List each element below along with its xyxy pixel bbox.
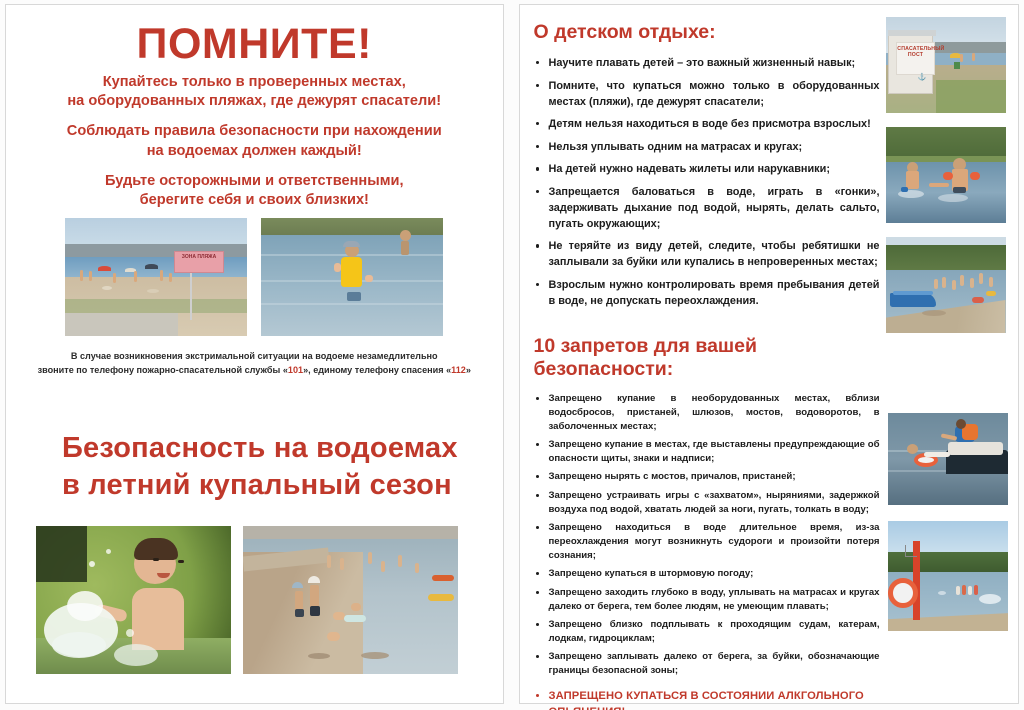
emergency-number-112: 112 xyxy=(451,365,466,375)
list-item: Запрещено заходить глубоко в воду, уплыв… xyxy=(532,586,880,614)
emergency-fineprint: В случае возникновения экстримальной сит… xyxy=(6,336,503,377)
photo-beach-with-blue-boat xyxy=(886,237,1006,333)
photo-beach-with-zone-sign: ЗОНА ПЛЯЖА xyxy=(65,218,247,336)
hero-subtitle-3-line-2: берегите себя и своих близких! xyxy=(24,191,485,210)
hero-subtitle-2-line-1: Соблюдать правила безопасности при нахож… xyxy=(24,122,485,141)
photo-rescuer-with-life-ring xyxy=(888,413,1008,505)
beach-zone-sign-text: ЗОНА ПЛЯЖА xyxy=(174,251,223,272)
children-rules-list: Научите плавать детей – это важный жизне… xyxy=(532,55,880,309)
list-item: Запрещено купание в необорудованных мест… xyxy=(532,392,880,434)
photo-children-on-beach xyxy=(243,526,458,674)
photo-rescue-post: СПАСАТЕЛЬНЫЙ ПОСТ ⚓ xyxy=(886,17,1006,113)
section-title-children-recreation: О детском отдыхе: xyxy=(534,21,880,44)
fineprint-text-part-3: » xyxy=(466,365,471,375)
list-item: Научите плавать детей – это важный жизне… xyxy=(532,55,880,71)
hero-subtitle-1-line-1: Купайтесь только в проверенных местах, xyxy=(24,73,485,92)
final-alcohol-warning: ЗАПРЕЩЕНО КУПАТЬСЯ В СОСТОЯНИИ АЛКГОЛЬНО… xyxy=(532,688,880,710)
main-poster-heading: Безопасность на водоемах в летний купаль… xyxy=(6,378,503,504)
emergency-fineprint-line-1: В случае возникновения экстримальной сит… xyxy=(34,349,475,363)
right-panel: О детском отдыхе: Научите плавать детей … xyxy=(519,4,1020,704)
list-item: Взрослым нужно контролировать время преб… xyxy=(532,277,880,309)
hero-block: ПОМНИТЕ! Купайтесь только в проверенных … xyxy=(6,5,503,210)
poster-page: ПОМНИТЕ! Купайтесь только в проверенных … xyxy=(0,0,1024,710)
list-item: Запрещено купание в местах, где выставле… xyxy=(532,438,880,466)
hero-subtitle-3-line-1: Будьте осторожными и ответственными, xyxy=(24,172,485,191)
rescue-post-sign-text: СПАСАТЕЛЬНЫЙ ПОСТ xyxy=(896,42,934,75)
right-panel-text-column: О детском отдыхе: Научите плавать детей … xyxy=(532,17,880,695)
emergency-number-101: 101 xyxy=(288,365,303,375)
hero-subtitle-2-line-2: на водоемах должен каждый! xyxy=(24,142,485,161)
list-item: Запрещается баловаться в воде, играть в … xyxy=(532,184,880,232)
left-photo-row-top: ЗОНА ПЛЯЖА xyxy=(6,214,503,336)
hero-subtitle-1: Купайтесь только в проверенных местах, н… xyxy=(24,73,485,112)
page-title: ПОМНИТЕ! xyxy=(24,23,485,67)
main-heading-line-1: Безопасность на водоемах xyxy=(62,430,503,467)
list-item: На детей нужно надевать жилеты или нарук… xyxy=(532,161,880,177)
fineprint-text-part-1: звоните по телефону пожарно-спасательной… xyxy=(38,365,288,375)
prohibitions-photo-group xyxy=(888,413,1008,631)
list-item: Запрещено нырять с мостов, причалов, при… xyxy=(532,470,880,484)
main-heading-line-2: в летний купальный сезон xyxy=(62,467,503,504)
photo-child-in-life-vest xyxy=(261,218,443,336)
list-item: Запрещено купаться в штормовую погоду; xyxy=(532,567,880,581)
list-item: Помните, что купаться можно только в обо… xyxy=(532,78,880,110)
photo-toddler-splashing xyxy=(36,526,231,674)
photo-two-boys-in-water xyxy=(886,127,1006,223)
section-prohibitions: 10 запретов для вашей безопасности: Запр… xyxy=(532,335,880,710)
list-item: Нельзя уплывать одним на матрасах и круг… xyxy=(532,139,880,155)
hero-subtitle-1-line-2: на оборудованных пляжах, где дежурят спа… xyxy=(24,92,485,111)
fineprint-text-part-2: », единому телефону спасения « xyxy=(303,365,451,375)
prohibitions-list: Запрещено купание в необорудованных мест… xyxy=(532,392,880,710)
list-item: Запрещено устраивать игры с «захватом», … xyxy=(532,489,880,517)
left-photo-row-bottom xyxy=(6,504,503,674)
list-item: Запрещено находиться в воде длительное в… xyxy=(532,521,880,563)
list-item: Запрещено заплывать далеко от берега, за… xyxy=(532,650,880,678)
hero-subtitle-3: Будьте осторожными и ответственными, бер… xyxy=(24,172,485,211)
photo-lifebuoy-on-post xyxy=(888,521,1008,631)
left-panel: ПОМНИТЕ! Купайтесь только в проверенных … xyxy=(5,4,504,704)
section-title-ten-prohibitions: 10 запретов для вашей безопасности: xyxy=(534,335,880,381)
list-item: Детям нельзя находиться в воде без присм… xyxy=(532,116,880,132)
hero-subtitle-2: Соблюдать правила безопасности при нахож… xyxy=(24,122,485,161)
emergency-fineprint-line-2: звоните по телефону пожарно-спасательной… xyxy=(34,363,475,377)
list-item: Запрещено близко подплывать к проходящим… xyxy=(532,618,880,646)
list-item: Не теряйте из виду детей, следите, чтобы… xyxy=(532,238,880,270)
